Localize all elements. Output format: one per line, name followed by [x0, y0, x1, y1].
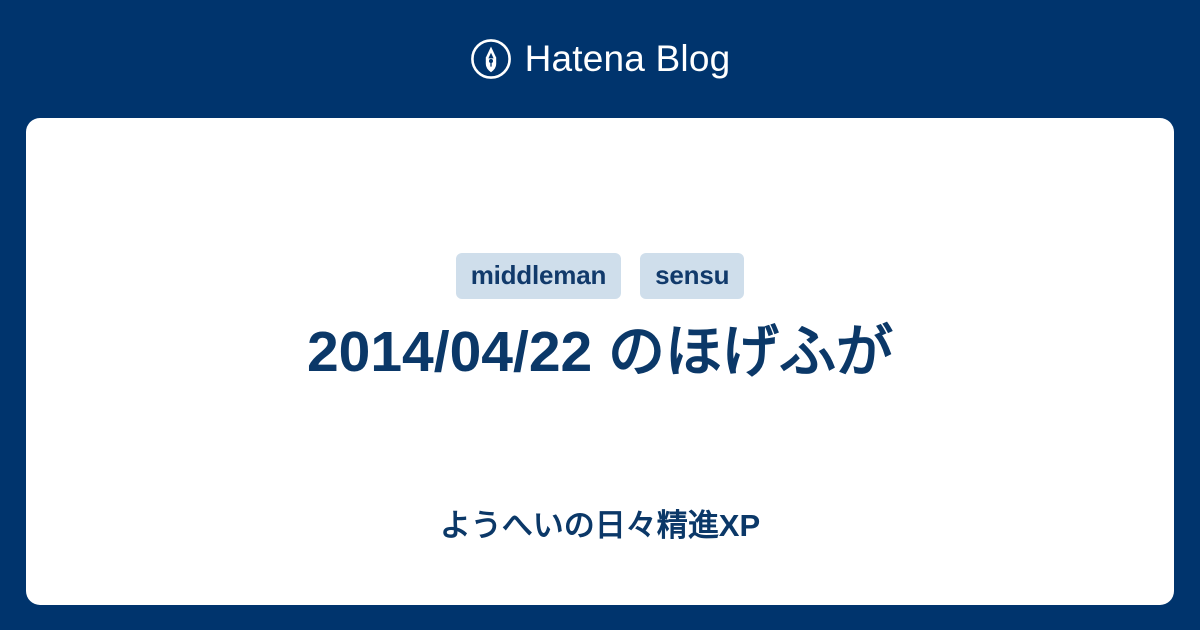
brand-name: Hatena Blog — [525, 38, 731, 80]
tag-item-middleman[interactable]: middleman — [456, 253, 621, 299]
fountain-pen-nib-in-circle-icon — [470, 38, 512, 80]
hatena-logo — [470, 38, 512, 80]
entry-card: middleman sensu 2014/04/22 のほげふが ようへいの日々… — [26, 118, 1174, 605]
ogp-card-page: Hatena Blog middleman sensu 2014/04/22 の… — [0, 0, 1200, 630]
entry-title[interactable]: 2014/04/22 のほげふが — [26, 318, 1174, 388]
blog-name[interactable]: ようへいの日々精進XP — [26, 506, 1174, 546]
tag-list: middleman sensu — [26, 253, 1174, 299]
brand-header: Hatena Blog — [0, 0, 1200, 118]
tag-item-sensu[interactable]: sensu — [640, 253, 744, 299]
